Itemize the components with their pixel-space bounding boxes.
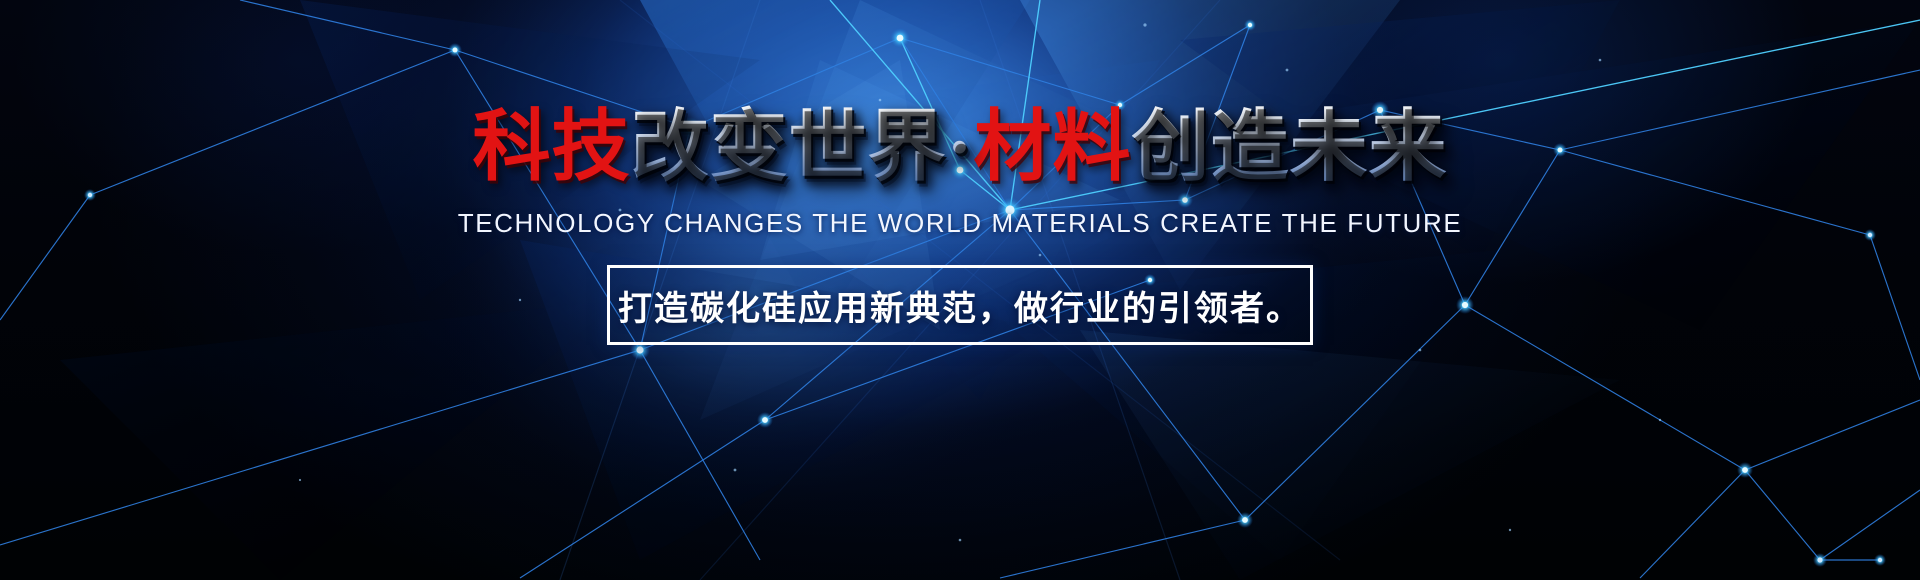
title-segment-1: 科技 <box>472 103 630 190</box>
slogan-text: 打造碳化硅应用新典范，做行业的引领者。 <box>618 281 1302 330</box>
page-title: 科技改变世界·材料创造未来 <box>472 108 1447 186</box>
title-segment-3: 材料 <box>974 103 1132 190</box>
slogan-box: 打造碳化硅应用新典范，做行业的引领者。 <box>607 265 1313 345</box>
title-segment-4: 创造未来 <box>1132 103 1448 190</box>
banner-content: 科技改变世界·材料创造未来 TECHNOLOGY CHANGES THE WOR… <box>0 0 1920 580</box>
title-segment-2: 改变世界· <box>630 103 973 190</box>
hero-banner: 科技改变世界·材料创造未来 TECHNOLOGY CHANGES THE WOR… <box>0 0 1920 580</box>
page-subtitle: TECHNOLOGY CHANGES THE WORLD MATERIALS C… <box>458 208 1463 239</box>
